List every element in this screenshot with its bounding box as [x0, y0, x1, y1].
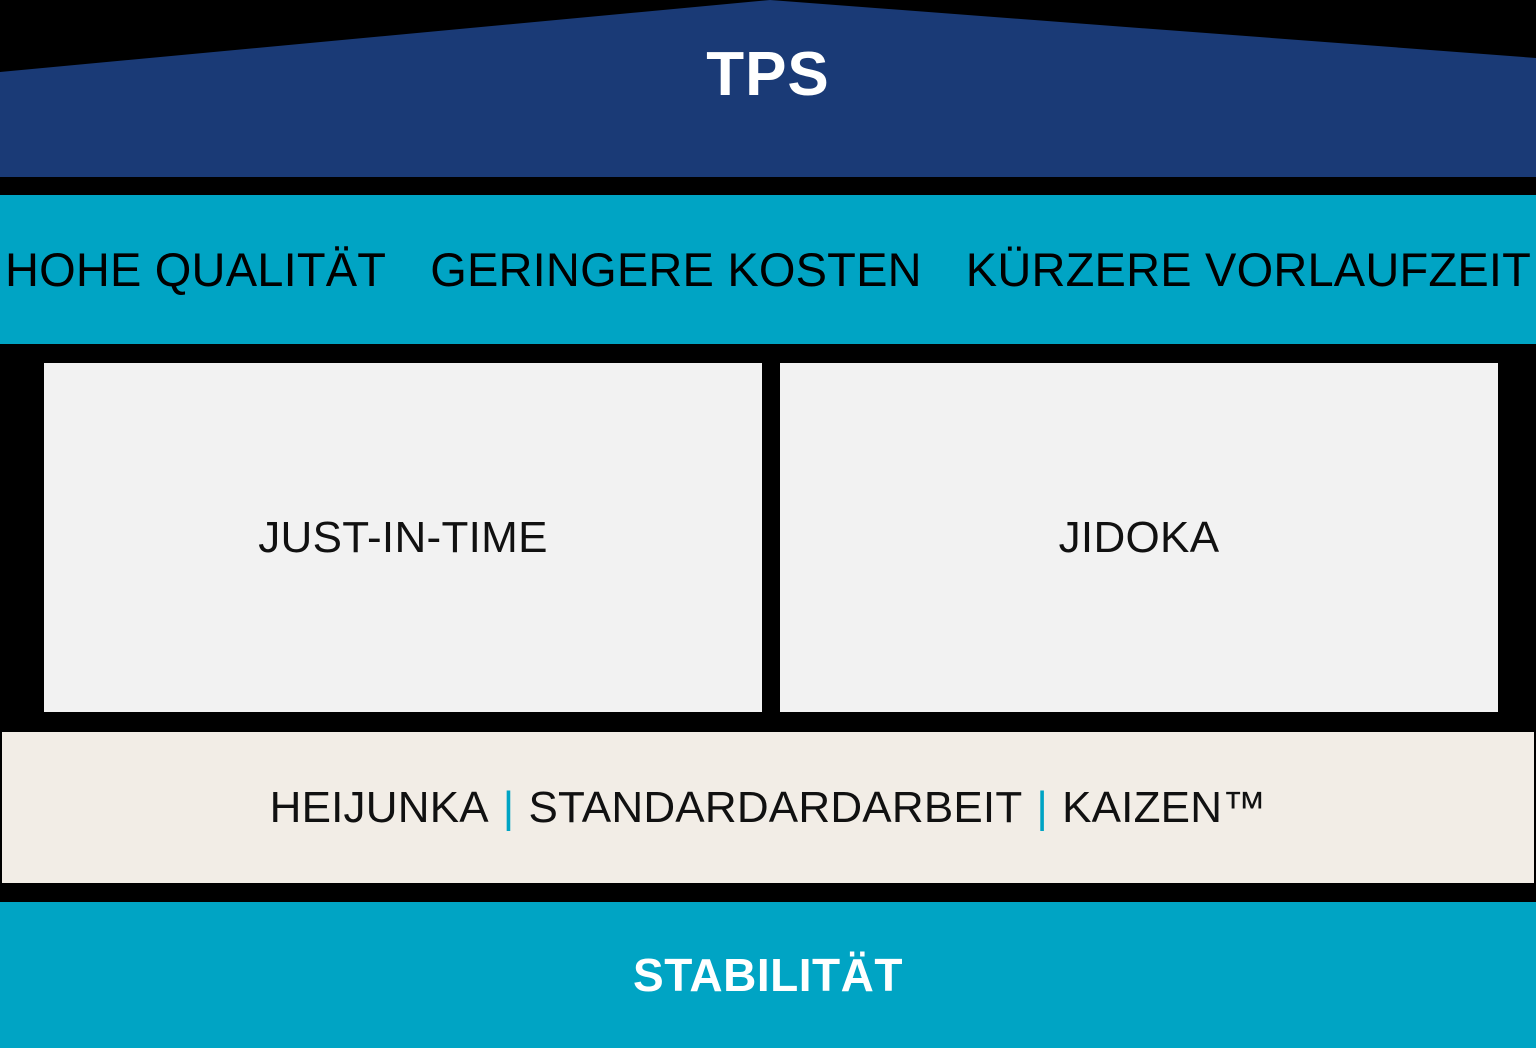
foundation-band: HEIJUNKA | STANDARDARDARBEIT | KAIZEN™ [2, 732, 1534, 883]
foundation-separator-2: | [1036, 783, 1048, 833]
pillar-label-jidoka: JIDOKA [1059, 513, 1220, 563]
goal-item-quality: HOHE QUALITÄT [5, 242, 386, 297]
foundation-list: HEIJUNKA | STANDARDARDARBEIT | KAIZEN™ [270, 783, 1267, 833]
pillar-just-in-time: JUST-IN-TIME [44, 363, 762, 712]
base-band-label: STABILITÄT [633, 948, 903, 1002]
pillar-jidoka: JIDOKA [780, 363, 1498, 712]
goal-item-lead-time: KÜRZERE VORLAUFZEIT [966, 242, 1531, 297]
base-band-stability: STABILITÄT [0, 902, 1536, 1048]
foundation-separator-1: | [503, 783, 515, 833]
goals-list: HOHE QUALITÄT GERINGERE KOSTEN KÜRZERE V… [5, 242, 1531, 297]
foundation-item-standard-work: STANDARDARDARBEIT [528, 783, 1022, 833]
foundation-item-heijunka: HEIJUNKA [270, 783, 489, 833]
tps-house-diagram: TPS HOHE QUALITÄT GERINGERE KOSTEN KÜRZE… [0, 0, 1536, 1048]
foundation-item-kaizen: KAIZEN™ [1062, 783, 1266, 833]
roof-title: TPS [0, 44, 1536, 106]
goal-item-cost: GERINGERE KOSTEN [430, 242, 922, 297]
pillar-label-just-in-time: JUST-IN-TIME [258, 513, 548, 563]
goals-band: HOHE QUALITÄT GERINGERE KOSTEN KÜRZERE V… [0, 195, 1536, 344]
